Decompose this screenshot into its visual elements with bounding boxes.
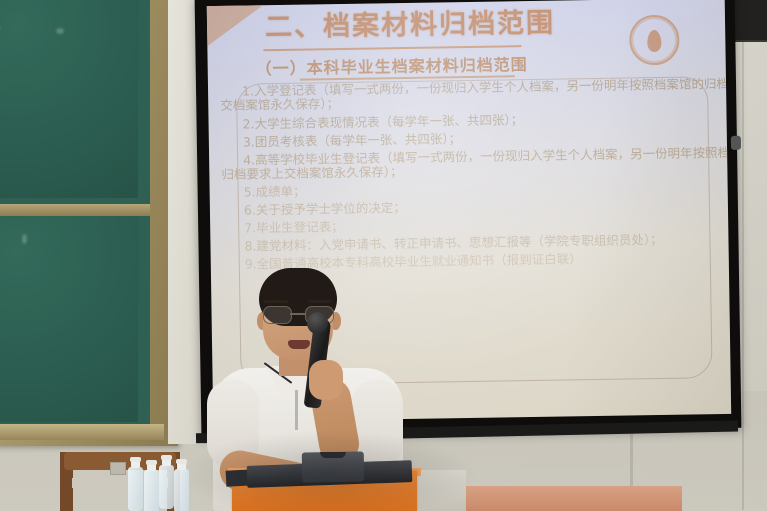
university-seal-icon	[629, 15, 680, 66]
laptop-handle-notch	[320, 452, 346, 458]
side-desk	[452, 486, 682, 511]
chalkboard-panel-lower	[0, 210, 138, 422]
water-bottle[interactable]	[128, 467, 143, 511]
chalk-smudge	[22, 234, 27, 244]
water-bottle[interactable]	[174, 469, 189, 511]
slide-title: 二、档案材料归档范围	[265, 9, 555, 43]
water-bottle[interactable]	[159, 465, 174, 509]
slide-list-item: 5.成绩单；	[244, 179, 732, 199]
chalkboard-divider-rail	[0, 204, 150, 216]
chalkboard-chalk-tray	[0, 424, 164, 440]
classroom-presentation-photo: 二、档案材料归档范围 （一）本科毕业生档案材料归档范围 1.入学登记表（填写一式…	[0, 0, 767, 511]
slide-title-underline	[263, 45, 521, 51]
screen-side-knob	[731, 136, 741, 150]
slide-list-item: 8.建党材料：入党申请书、转正申请书、思想汇报等（学院专职组织员处）；	[244, 233, 731, 253]
glasses-bridge	[290, 313, 306, 315]
shirt-placket	[295, 390, 298, 430]
water-bottle[interactable]	[144, 470, 159, 511]
wall-seam-right	[742, 20, 744, 510]
chalkboard-panel-upper	[0, 0, 138, 198]
chalk-smudge	[56, 28, 64, 34]
lens-left	[263, 306, 292, 324]
mouth	[288, 340, 310, 349]
slide-body-list: 1.入学登记表（填写一式两份，一份现归入学生个人档案，另一份明年按照档案馆的归档…	[242, 78, 731, 277]
eyebrow-right	[308, 300, 332, 303]
eyebrow-left	[264, 300, 288, 303]
slide-corner-triangle	[207, 1, 270, 46]
chalkboard-frame	[0, 0, 178, 446]
wall-outlet	[110, 462, 126, 475]
slide-list-item: 2.大学生综合表现情况表（每学年一张、共四张）；	[242, 110, 731, 130]
slide-list-item: 6.关于授予学士学位的决定；	[244, 197, 731, 217]
hand-right	[309, 360, 343, 400]
